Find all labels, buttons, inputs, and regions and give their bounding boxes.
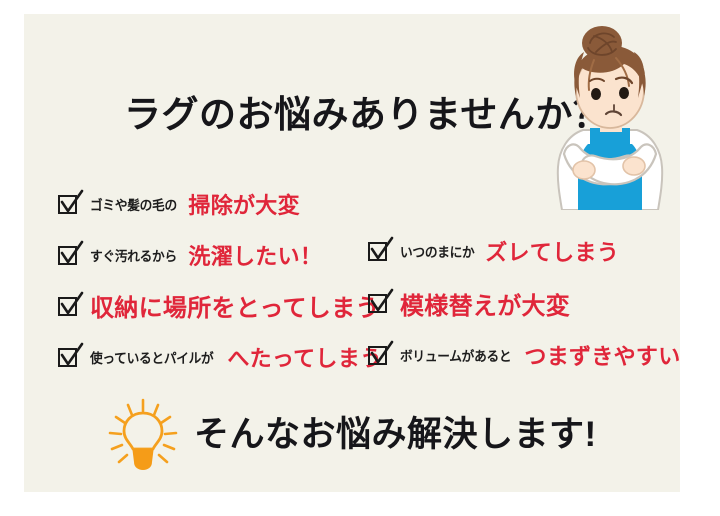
checklist-highlight: へたってしまう [227, 341, 382, 373]
checklist-highlight: 収納に場所をとってしまう [90, 288, 380, 323]
checklist-column-left: ゴミや髪の毛の 掃除が大変 すぐ汚れるから 洗濯したい！ 収納に場所をとってしま… [58, 178, 378, 382]
checklist-prefix: いつのまにか [400, 241, 474, 261]
checklist-highlight: ズレてしまう [485, 235, 619, 267]
checklist-column-right: いつのまにか ズレてしまう 模様替えが大変 ボリュームがあると つまずきやすい [368, 225, 668, 381]
footer-text: そんなお悩み解決します! [194, 417, 597, 456]
checklist-prefix: すぐ汚れるから [90, 245, 177, 265]
checkbox-checked-icon[interactable] [58, 295, 80, 317]
checkbox-checked-icon[interactable] [368, 292, 390, 314]
checkbox-checked-icon[interactable] [58, 244, 80, 266]
checklist-highlight: つまずきやすい [524, 339, 680, 371]
checklist-item[interactable]: いつのまにか ズレてしまう [368, 225, 668, 277]
checkbox-checked-icon[interactable] [58, 346, 80, 368]
checkbox-checked-icon[interactable] [58, 193, 80, 215]
checkbox-checked-icon[interactable] [368, 344, 390, 366]
checklist-prefix: ゴミや髪の毛の [90, 194, 177, 214]
worried-woman-illustration [528, 26, 692, 210]
checklist-highlight: 掃除が大変 [188, 188, 300, 220]
checklist-item[interactable]: ゴミや髪の毛の 掃除が大変 [58, 178, 378, 229]
checklist-prefix: ボリュームがあると [400, 345, 511, 365]
checklist-item[interactable]: すぐ汚れるから 洗濯したい！ [58, 229, 378, 280]
footer-callout: そんなお悩み解決します! [106, 398, 597, 474]
checklist-item[interactable]: 使っているとパイルが へたってしまう [58, 331, 378, 382]
checklist-highlight: 洗濯したい！ [188, 239, 322, 271]
lightbulb-icon [106, 398, 180, 474]
poster: ラグのお悩みありませんか？ ゴミや髪の毛の 掃除が大変 すぐ汚れるから 洗濯した… [0, 0, 720, 516]
checklist-item[interactable]: 模様替えが大変 [368, 277, 668, 329]
checklist-highlight: 模様替えが大変 [400, 286, 570, 321]
checklist-prefix: 使っているとパイルが [90, 347, 213, 367]
checklist-item[interactable]: ボリュームがあると つまずきやすい [368, 329, 668, 381]
checkbox-checked-icon[interactable] [368, 240, 390, 262]
checklist-item[interactable]: 収納に場所をとってしまう [58, 280, 378, 331]
